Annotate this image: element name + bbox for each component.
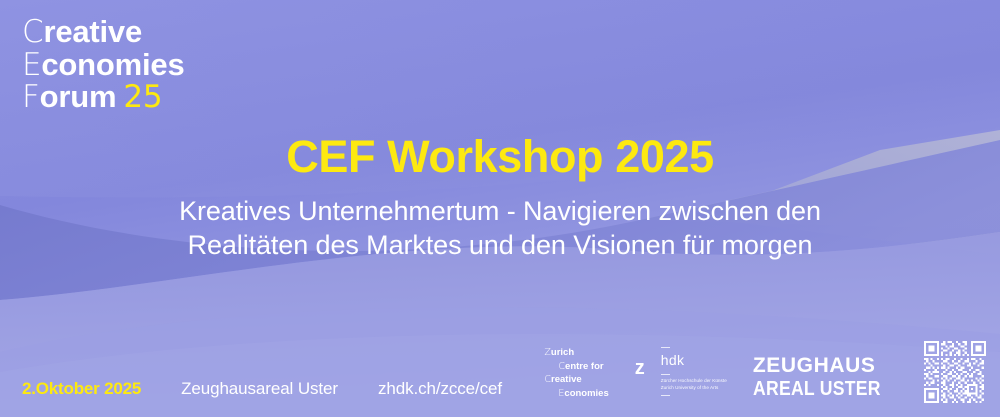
- zcce-rest-urich: urich: [551, 347, 574, 358]
- cef-logo-line-economies: Economies: [22, 49, 185, 82]
- zhdk-tagline-de: Zürcher Hochschule der Künste: [661, 378, 727, 385]
- zcce-rest-reative: reative: [551, 374, 582, 385]
- subtitle-line-2: Realitäten des Marktes und den Visionen …: [0, 228, 1000, 262]
- cef-logo-cap-f: F: [22, 79, 40, 115]
- zeughaus-areal-uster-logo: ZEUGHAUS AREAL USTER: [753, 355, 898, 403]
- qr-code-icon[interactable]: [924, 341, 986, 403]
- cef-logo-cap-e: E: [22, 47, 41, 83]
- headline-block: CEF Workshop 2025 Kreatives Unternehmert…: [0, 132, 1000, 262]
- zhdk-tagline: Zürcher Hochschule der Künste Zurich Uni…: [661, 378, 727, 392]
- zeughaus-line-1: ZEUGHAUS: [753, 355, 898, 376]
- zhdk-tagline-en: Zurich University of the Arts: [661, 385, 727, 392]
- event-url-link[interactable]: zhdk.ch/zcce/cef: [378, 379, 502, 399]
- cef-logo-rest-forum: orum: [40, 79, 117, 114]
- cef-logo-rest-creative: reative: [43, 14, 142, 49]
- cef-logo-cap-c: C: [22, 14, 43, 50]
- event-date: 2.Oktober 2025: [22, 379, 141, 399]
- zcce-logo: Zurich Centre for Creative Economies: [544, 346, 608, 403]
- cef-logo-line-forum: Forum25: [22, 81, 185, 114]
- partner-logos: Zurich Centre for Creative Economies z h…: [544, 341, 986, 403]
- zhdk-z-mark: z: [635, 344, 645, 378]
- zcce-line-economies: Economies: [544, 387, 608, 401]
- event-venue: Zeughausareal Uster: [181, 379, 338, 399]
- zhdk-rule-mid: [661, 374, 670, 375]
- zhdk-rule-top: [661, 347, 670, 348]
- zhdk-wordmark-group: hdk Zürcher Hochschule der Künste Zurich…: [661, 344, 727, 399]
- cef-logo-rest-economies: conomies: [41, 47, 184, 82]
- cef-logo-line-creative: Creative: [22, 16, 185, 49]
- page-title: CEF Workshop 2025: [0, 132, 1000, 182]
- zhdk-logo: z hdk Zürcher Hochschule der Künste Zuri…: [635, 344, 727, 403]
- cef-workshop-banner: Creative Economies Forum25 CEF Workshop …: [0, 0, 1000, 417]
- subtitle-line-1: Kreatives Unternehmertum - Navigieren zw…: [0, 194, 1000, 228]
- zcce-rest-entre-for: entre for: [565, 361, 604, 372]
- zcce-line-zurich: Zurich: [544, 346, 608, 360]
- zcce-line-creative: Creative: [544, 373, 608, 387]
- cef-logo: Creative Economies Forum25: [22, 16, 185, 114]
- zeughaus-line-2: AREAL USTER: [753, 379, 881, 399]
- zhdk-rule-bottom: [661, 395, 670, 396]
- subtitle: Kreatives Unternehmertum - Navigieren zw…: [0, 194, 1000, 262]
- footer-info-group: 2.Oktober 2025 Zeughausareal Uster zhdk.…: [22, 379, 502, 399]
- cef-logo-year: 25: [123, 79, 162, 115]
- zhdk-word: hdk: [661, 353, 727, 368]
- footer: 2.Oktober 2025 Zeughausareal Uster zhdk.…: [0, 333, 1000, 417]
- zcce-rest-conomies: conomies: [564, 388, 608, 399]
- zcce-line-centre: Centre for: [544, 360, 608, 374]
